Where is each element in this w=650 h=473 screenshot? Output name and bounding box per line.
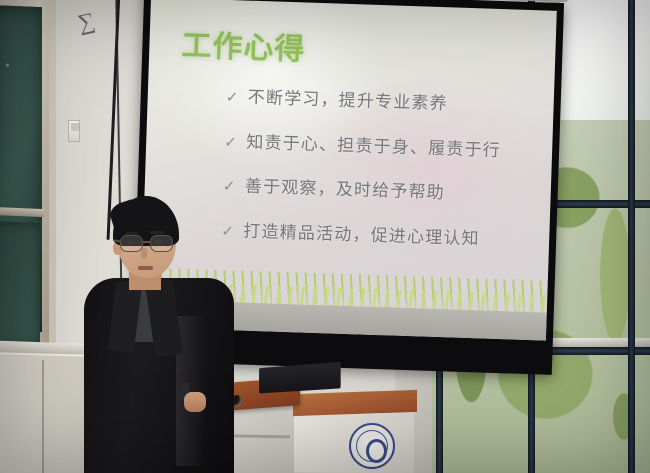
slide-bullet-item: ✓ 打造精品活动，促进心理认知 (221, 221, 541, 251)
cabinet-seam (42, 360, 44, 473)
slide-bullet-item: ✓ 善于观察，及时给予帮助 (222, 177, 542, 207)
chalkboard-divider (0, 207, 44, 217)
laptop[interactable] (259, 362, 341, 394)
chalkboard-lower-panel (0, 221, 40, 347)
slide-title: 工作心得 (181, 20, 306, 68)
glasses-icon (117, 235, 179, 252)
university-emblem-icon (349, 423, 395, 469)
slide-bullet-list: ✓ 不断学习，提升专业素养 ✓ 知责于心、担责于身、履责于行 ✓ 善于观察，及时… (220, 88, 546, 277)
checkmark-icon: ✓ (225, 88, 248, 107)
slide-bullet-text: 打造精品活动，促进心理认知 (243, 222, 480, 249)
glasses-lens (150, 235, 173, 252)
chalk-dust (6, 64, 9, 67)
slide-bullet-text: 善于观察，及时给予帮助 (244, 178, 445, 204)
presenter-nose (141, 248, 147, 259)
light-switch[interactable] (68, 120, 80, 142)
glasses-bridge (143, 241, 151, 243)
glasses-lens (120, 235, 143, 252)
slide-bullet-text: 不断学习，提升专业素养 (247, 89, 448, 115)
presenter-hand (184, 392, 206, 412)
secondary-podium-top (293, 390, 417, 416)
presenter-mouth (138, 266, 153, 270)
window-mullion-vertical (628, 0, 635, 473)
slide-bullet-text: 知责于心、担责于身、履责于行 (246, 133, 501, 161)
checkmark-icon: ✓ (222, 177, 245, 196)
checkmark-icon: ✓ (224, 132, 247, 151)
presenter (84, 196, 234, 473)
classroom-photo: ∑ 工作心得 ✓ 不断学习，提升专业素养 (0, 0, 650, 473)
slide-bullet-item: ✓ 知责于心、担责于身、履责于行 (224, 132, 544, 162)
